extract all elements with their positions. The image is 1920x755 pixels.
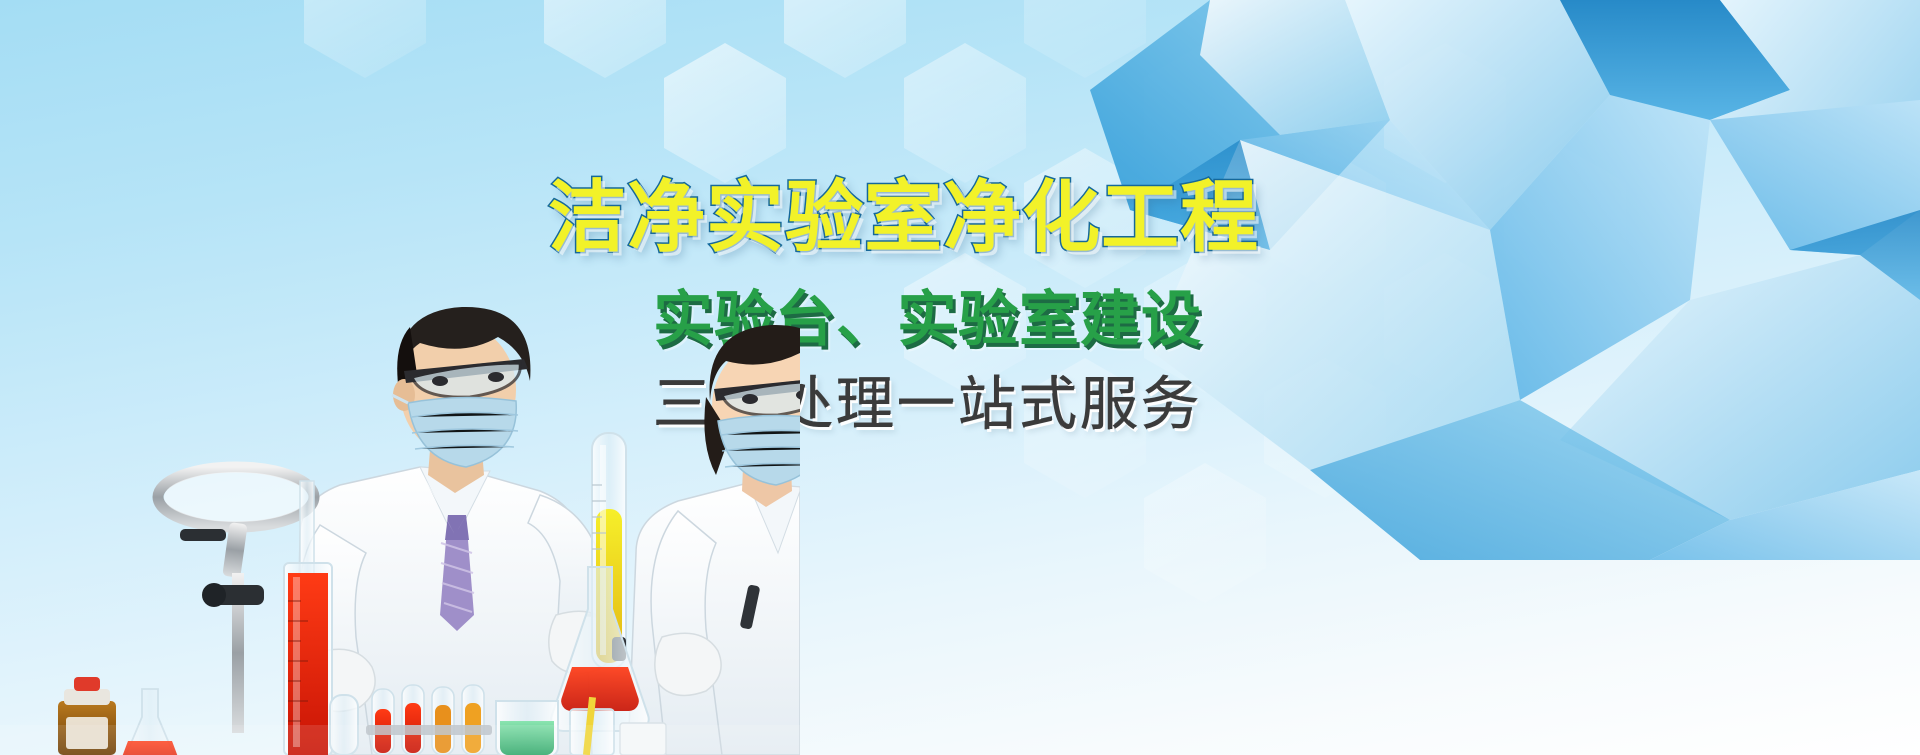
- hexagon-shape: [1024, 0, 1146, 78]
- amber-reagent-bottle: [58, 677, 116, 755]
- hexagon-shape: [1144, 463, 1266, 603]
- banner-copy: 洁净实验室净化工程 实验台、实验室建设 三废处理一站式服务: [548, 178, 1188, 434]
- red-liquid-graduated-cylinder: [284, 563, 332, 755]
- page-title: 洁净实验室净化工程: [548, 178, 1188, 256]
- hexagon-shape: [1384, 253, 1506, 393]
- hexagon-shape: [304, 0, 426, 78]
- hexagon-shape: [1264, 358, 1386, 498]
- yellow-straw-glass: [570, 697, 614, 755]
- hexagon-shape: [664, 43, 786, 183]
- red-liquid-erlenmeyer-flask: [551, 567, 648, 731]
- hexagon-shape: [904, 43, 1026, 183]
- clear-test-tube: [330, 695, 358, 755]
- lab-purification-banner: 洁净实验室净化工程 实验台、实验室建设 三废处理一站式服务: [0, 0, 1920, 755]
- red-liquid-erlenmeyer-flask-small: [116, 689, 184, 755]
- label-card: [620, 723, 666, 755]
- subtitle-services: 实验台、实验室建设: [653, 290, 1188, 350]
- crystal-polygon-cluster: [1090, 0, 1920, 560]
- yellow-liquid-test-tube: [592, 433, 626, 669]
- hexagon-shape: [1144, 43, 1266, 183]
- magnifying-glass-on-stand: [158, 467, 314, 733]
- subtitle-waste-service: 三废处理一站式服务: [653, 376, 1188, 434]
- test-tube-rack-with-colored-tubes: [366, 685, 492, 755]
- hexagon-shape: [1504, 148, 1626, 288]
- green-liquid-beaker: [496, 701, 558, 755]
- hexagon-shape: [784, 0, 906, 78]
- hexagon-shape: [1264, 148, 1386, 288]
- hexagon-shape: [544, 0, 666, 78]
- stand-rod: [300, 481, 314, 755]
- hexagon-shape: [1384, 43, 1506, 183]
